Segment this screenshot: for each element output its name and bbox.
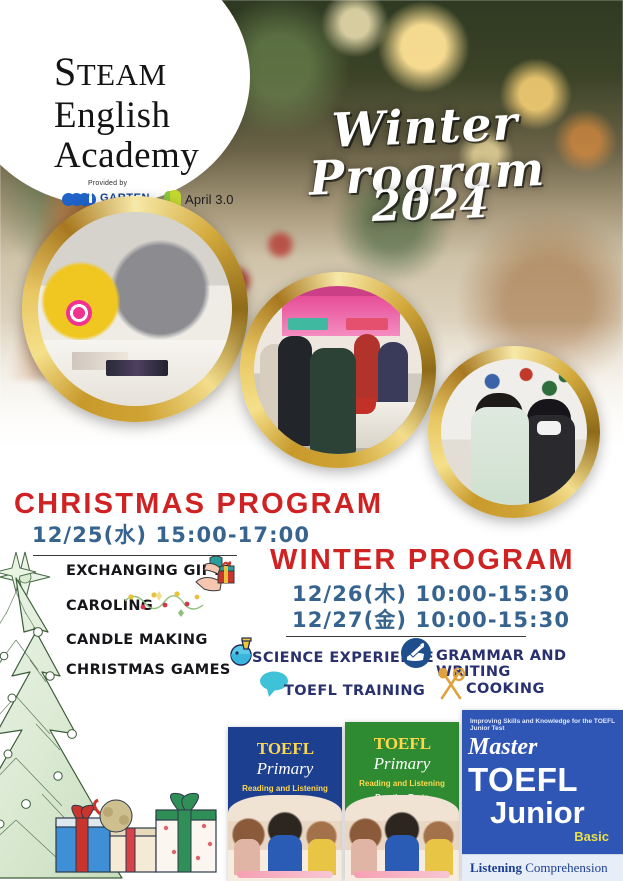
- book-cover-master-toefl-junior: Improving Skills and Knowledge for the T…: [462, 710, 623, 881]
- logo-steam-rest: TEAM: [77, 57, 167, 92]
- winter-program-heading: WINTER PROGRAM: [270, 544, 575, 577]
- book1-title-italic: Primary: [257, 759, 314, 778]
- book3-title-toefl: TOEFL: [468, 761, 578, 799]
- book3-footer-text: Listening Comprehension: [470, 860, 623, 876]
- gift-boxes-illustration: [52, 776, 220, 881]
- book2-title-italic: Primary: [374, 754, 431, 773]
- logo-line-english: English: [54, 97, 171, 134]
- christmas-tree-illustration: [0, 548, 220, 881]
- book-cover-toefl-primary-step2: TOEFL Primary Reading and Listening Prac…: [345, 722, 459, 881]
- cooking-utensils-icon: [436, 668, 466, 705]
- logo-provided-by: Provided by: [88, 180, 127, 187]
- book2-title: TOEFL Primary: [345, 734, 459, 774]
- book2-cover-photo: [345, 795, 459, 881]
- photo-circle-classroom-kids: [22, 196, 248, 422]
- logo-line-academy: Academy: [54, 137, 199, 174]
- christmas-program-date: 12/25(水) 15:00-17:00: [32, 519, 310, 549]
- winter-activity-toefl-training: TOEFL TRAINING: [284, 683, 425, 699]
- photo-circle-christmas-activity: [240, 272, 436, 468]
- book1-cover-photo: [228, 795, 342, 881]
- logo-line-steam: STEAM: [54, 52, 167, 92]
- winter-program-date-2: 12/27(金) 10:00-15:30: [292, 604, 570, 634]
- book3-footer-bold: Listening: [470, 860, 522, 875]
- christmas-program-heading: CHRISTMAS PROGRAM: [14, 488, 383, 521]
- book3-title-junior: Junior: [490, 795, 623, 831]
- book1-title-main: TOEFL: [257, 739, 313, 758]
- book3-tagline: Improving Skills and Knowledge for the T…: [470, 718, 623, 732]
- book2-title-main: TOEFL: [374, 734, 430, 753]
- poster-title-year: 2024: [309, 176, 551, 233]
- brand-april-label: April 3.0: [185, 192, 234, 207]
- logo-steam-cap: S: [54, 49, 77, 94]
- winter-activity-cooking: COOKING: [466, 681, 545, 697]
- book-cover-toefl-primary-step1: TOEFL Primary Reading and Listening Prac…: [228, 727, 342, 881]
- book3-footer: Listening Comprehension: [462, 854, 623, 881]
- book3-footer-rest: Comprehension: [522, 860, 608, 875]
- poster-root: STEAM English Academy Provided by GARTEN…: [0, 0, 623, 881]
- book2-subtitle: Reading and Listening: [345, 779, 459, 788]
- book3-title-master: Master: [468, 734, 537, 761]
- photo-circle-study-session: [428, 346, 600, 518]
- book1-subtitle: Reading and Listening: [228, 784, 342, 793]
- writing-hand-icon: [400, 637, 432, 674]
- book3-level: Basic: [462, 829, 609, 844]
- book1-title: TOEFL Primary: [228, 739, 342, 779]
